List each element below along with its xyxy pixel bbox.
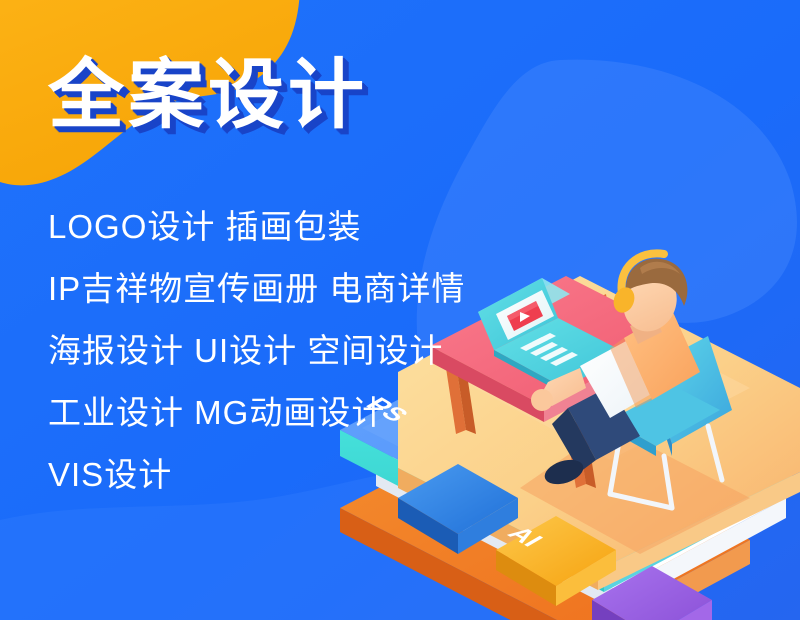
service-line-4: 工业设计 MG动画设计 [48, 382, 465, 444]
service-line-5: VIS设计 [48, 444, 465, 506]
title-block: 全案设计 [48, 58, 368, 134]
page-title: 全案设计 [48, 58, 368, 134]
service-line-3: 海报设计 UI设计 空间设计 [48, 320, 465, 382]
promo-banner: 全案设计 LOGO设计 插画包装 IP吉祥物宣传画册 电商详情 海报设计 UI设… [0, 0, 800, 620]
service-line-1: LOGO设计 插画包装 [48, 196, 465, 258]
service-list: LOGO设计 插画包装 IP吉祥物宣传画册 电商详情 海报设计 UI设计 空间设… [48, 196, 465, 506]
service-line-2: IP吉祥物宣传画册 电商详情 [48, 258, 465, 320]
